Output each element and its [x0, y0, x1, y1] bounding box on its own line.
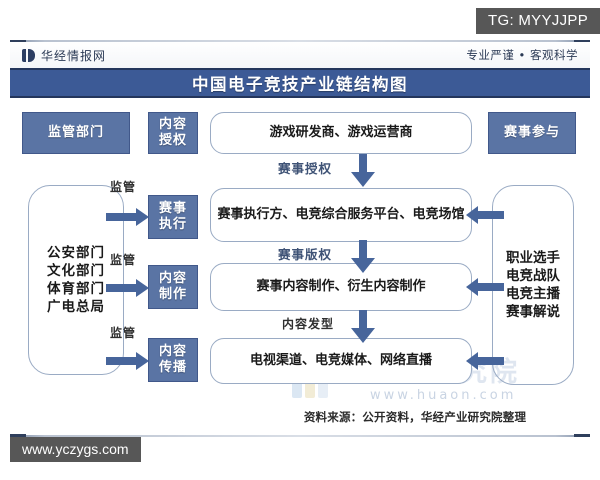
flow-label-event-copyright: 赛事版权 [278, 244, 332, 263]
brand-slogan-label: 专业严谨 • 客观科学 [466, 47, 578, 63]
flag-mark-icon [22, 49, 35, 62]
arrow-right-icon [106, 352, 150, 370]
arrow-right-icon [106, 208, 150, 226]
supervise-label-1: 监管 [110, 178, 136, 195]
stage-label-line2: 传播 [159, 360, 187, 376]
arrow-down-icon [350, 154, 376, 188]
infographic-poster: 华经情报网 专业严谨 • 客观科学 中国电子竞技产业链结构图 华经产业研究院 w… [10, 40, 590, 437]
stage-box-content-authorization[interactable]: 内容 授权 [148, 112, 198, 154]
watermark-url: www.huaon.com [370, 388, 516, 403]
arrow-left-icon [466, 278, 504, 296]
right-participants-body-box[interactable]: 职业选手 电竞战队 电竞主播 赛事解说 [492, 185, 574, 385]
source-note: 资料来源：公开资料，华经产业研究院整理 [250, 409, 580, 425]
participant-line-1: 职业选手 [506, 249, 560, 267]
chart-title-bar: 中国电子竞技产业链结构图 [10, 68, 590, 98]
arrow-down-icon [350, 240, 376, 274]
stage-box-event-execution[interactable]: 赛事 执行 [148, 195, 198, 239]
participant-line-3: 电竞主播 [506, 285, 560, 303]
regulator-line-2: 文化部门 [47, 262, 105, 280]
stage-box-content-distribution[interactable]: 内容 传播 [148, 338, 198, 382]
tg-handle-badge: TG: MYYJJPP [476, 8, 600, 34]
stage-label-line1: 内容 [159, 271, 187, 287]
regulator-line-3: 体育部门 [47, 280, 105, 298]
diagram-canvas: 华经产业研究院 www.huaon.com 监管部门 公安部门 文化部门 体育部… [10, 100, 590, 437]
arrow-right-icon [106, 279, 150, 297]
supervise-label-2: 监管 [110, 251, 136, 268]
brand-bar: 华经情报网 专业严谨 • 客观科学 [10, 42, 590, 68]
content-box-content-production[interactable]: 赛事内容制作、衍生内容制作 [210, 263, 472, 311]
stage-label-line2: 授权 [159, 133, 187, 149]
arrow-down-icon [350, 310, 376, 344]
content-box-game-developers[interactable]: 游戏研发商、游戏运营商 [210, 112, 472, 154]
right-header-box-participants[interactable]: 赛事参与 [488, 112, 576, 154]
stage-label-line2: 执行 [159, 217, 187, 233]
content-box-content-distribution[interactable]: 电视渠道、电竞媒体、网络直播 [210, 338, 472, 384]
brand-left-group: 华经情报网 [22, 47, 106, 64]
stage-box-content-production[interactable]: 内容 制作 [148, 265, 198, 309]
supervise-label-3: 监管 [110, 324, 136, 341]
regulator-line-4: 广电总局 [47, 298, 105, 316]
stage-label-line1: 赛事 [159, 201, 187, 217]
stage-label-line2: 制作 [159, 287, 187, 303]
site-url-badge: www.yczygs.com [10, 437, 141, 462]
brand-name-label: 华经情报网 [41, 47, 106, 64]
flow-label-content-distribution: 内容发型 [282, 315, 334, 332]
arrow-left-icon [466, 206, 504, 224]
arrow-left-icon [466, 352, 504, 370]
content-box-event-execution[interactable]: 赛事执行方、电竞综合服务平台、电竞场馆 [210, 188, 472, 242]
participant-line-2: 电竞战队 [506, 267, 560, 285]
page-title: 中国电子竞技产业链结构图 [192, 71, 408, 95]
flow-label-event-authorization: 赛事授权 [278, 158, 332, 177]
participant-line-4: 赛事解说 [506, 303, 560, 321]
left-header-box-regulator[interactable]: 监管部门 [22, 112, 130, 154]
stage-label-line1: 内容 [159, 344, 187, 360]
regulator-line-1: 公安部门 [47, 244, 105, 262]
stage-label-line1: 内容 [159, 117, 187, 133]
